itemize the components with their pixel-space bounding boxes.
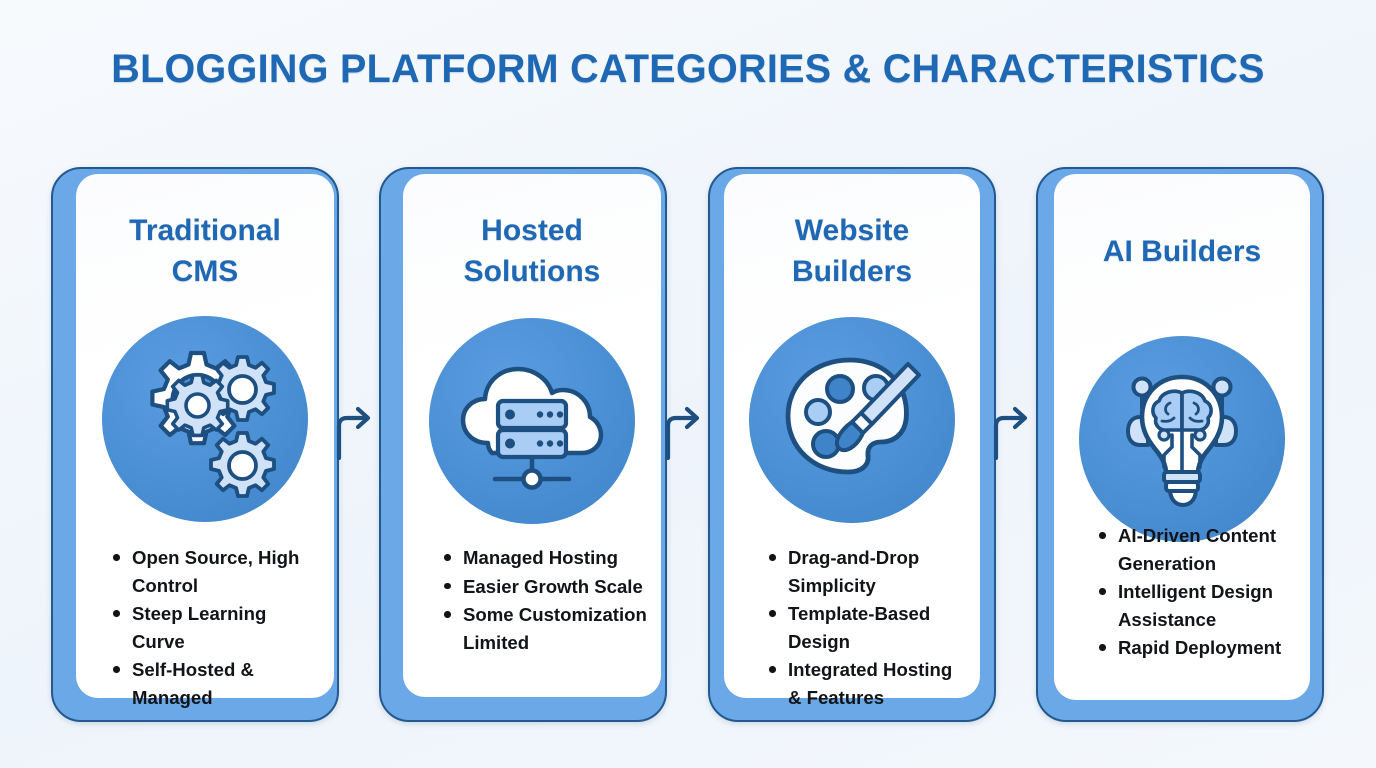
category-card-hosted-solutions[interactable]: Hosted Solutions [379,167,667,722]
palette-brush-icon [768,336,936,504]
list-item: Open Source, High Control [130,544,322,599]
list-item: Intelligent Design Assistance [1116,578,1298,633]
bullet-list-website-builders: Drag-and-Drop Simplicity Template-Based … [750,544,974,713]
list-item: Steep Learning Curve [130,600,322,655]
cloud-server-icon [448,337,616,505]
icon-badge-brain-bulb [1079,336,1285,542]
connector-arrow-2 [662,390,706,460]
elbow-arrow-right-icon [662,390,706,460]
list-item: Template-Based Design [786,600,968,655]
icon-badge-cloud-server [429,318,635,524]
connector-arrow-3 [990,390,1034,460]
card-title-line-1: Traditional [82,210,328,251]
gears-icon [121,335,289,503]
bullet-list-traditional-cms: Open Source, High Control Steep Learning… [94,544,328,713]
list-item: Some Customization Limited [461,601,649,656]
elbow-arrow-right-icon [333,390,377,460]
card-title-line-1: Website [730,210,974,251]
card-title-hosted-solutions: Hosted Solutions [409,210,655,292]
card-title-website-builders: Website Builders [730,210,974,292]
card-surface: Traditional CMS [76,174,334,698]
icon-badge-palette [749,317,955,523]
category-card-row: Traditional CMS [0,0,1376,768]
list-item: Managed Hosting [461,544,649,572]
category-card-website-builders[interactable]: Website Builders [708,167,996,722]
category-card-ai-builders[interactable]: AI Builders [1036,167,1324,722]
card-body: Hosted Solutions [403,174,661,697]
card-title-traditional-cms: Traditional CMS [82,210,328,292]
list-item: AI-Driven Content Generation [1116,522,1298,577]
card-title-line-2: Solutions [409,251,655,292]
card-surface: AI Builders [1054,174,1310,700]
infographic-canvas: BLOGGING PLATFORM CATEGORIES & CHARACTER… [0,0,1376,768]
connector-arrow-1 [333,390,377,460]
list-item: Rapid Deployment [1116,634,1298,662]
bullet-list-hosted-solutions: Managed Hosting Easier Growth Scale Some… [425,544,655,657]
card-body: Website Builders [724,174,980,698]
card-title-line-2: CMS [82,251,328,292]
list-item: Integrated Hosting & Features [786,656,968,711]
bullet-list-ai-builders: AI-Driven Content Generation Intelligent… [1080,522,1304,663]
list-item: Drag-and-Drop Simplicity [786,544,968,599]
list-item: Self-Hosted & Managed [130,656,322,711]
card-title-line-1: Hosted [409,210,655,251]
card-title-ai-builders: AI Builders [1060,231,1304,272]
card-surface: Website Builders [724,174,980,698]
card-body: AI Builders [1054,174,1310,700]
list-item: Easier Growth Scale [461,573,649,601]
elbow-arrow-right-icon [990,390,1034,460]
category-card-traditional-cms[interactable]: Traditional CMS [51,167,339,722]
card-body: Traditional CMS [76,174,334,698]
icon-badge-gears [102,316,308,522]
brain-bulb-icon [1098,355,1266,523]
card-title-line-2: Builders [730,251,974,292]
card-title-line-1: AI Builders [1060,231,1304,272]
card-surface: Hosted Solutions [403,174,661,697]
